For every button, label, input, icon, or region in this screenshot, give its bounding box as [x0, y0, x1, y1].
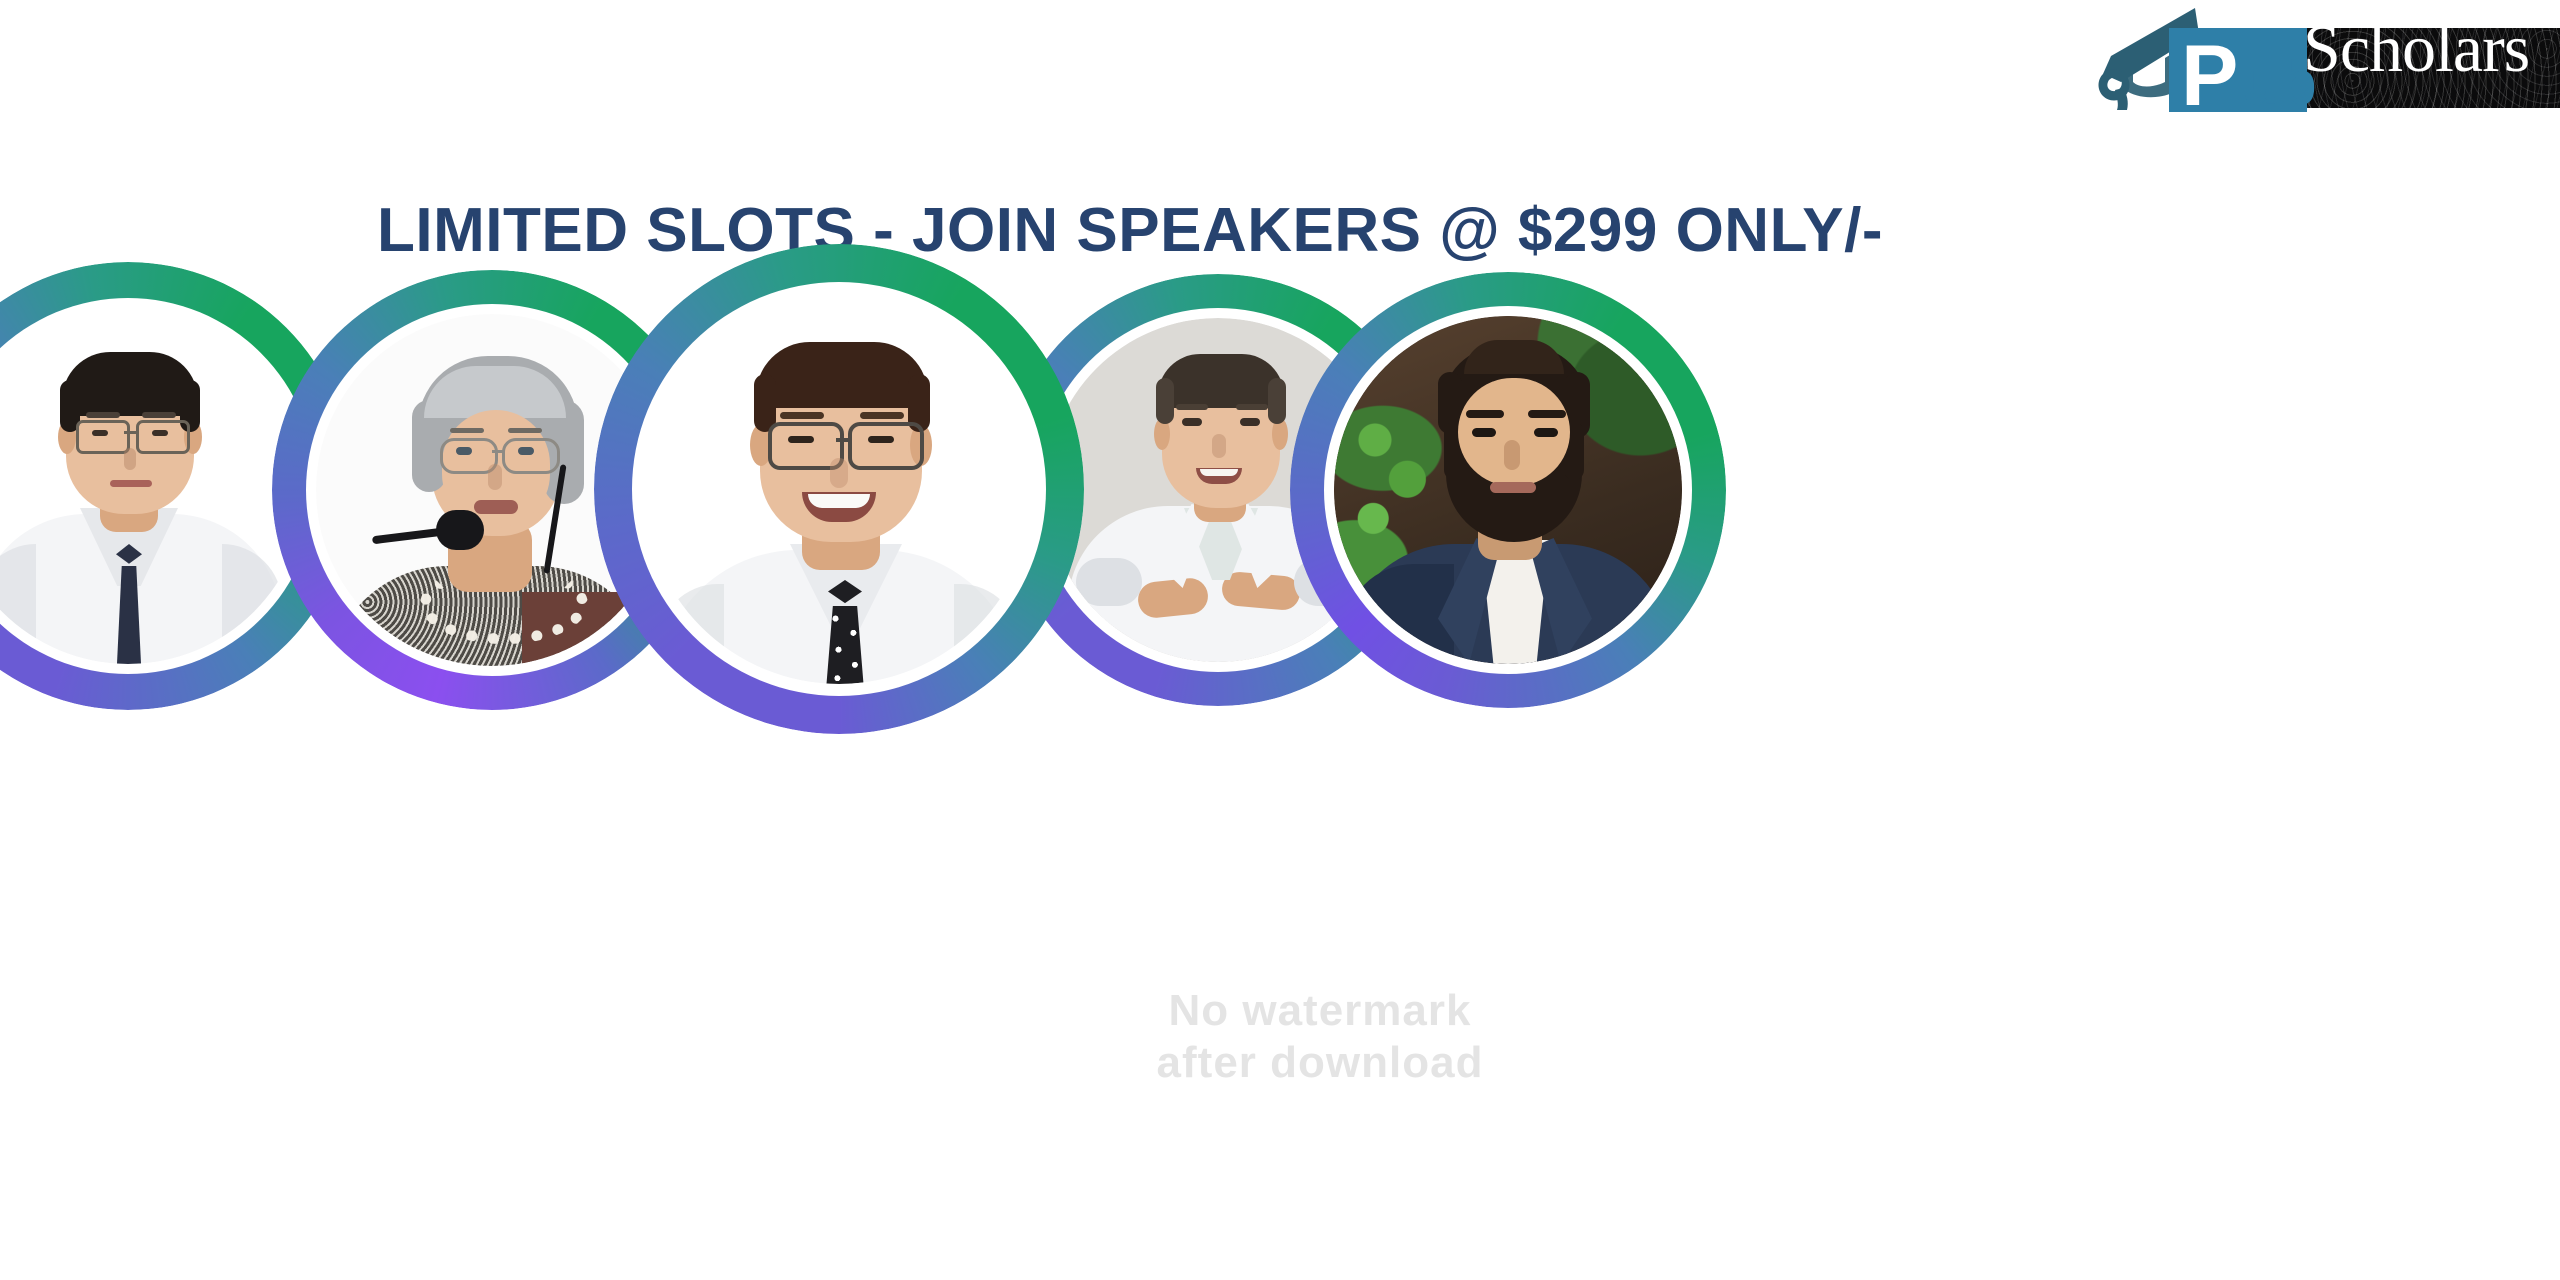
speaker-photo-3	[644, 294, 1034, 684]
logo-text-p: P	[2181, 40, 2238, 112]
speaker-ring-3[interactable]	[594, 244, 1084, 734]
speaker-photo-5	[1334, 316, 1682, 664]
speaker-rings-strip	[0, 250, 2560, 1170]
speakers-promo-banner: Scholars P ub LIMITED SLOTS - JOIN SPEAK…	[0, 0, 2560, 1280]
logo-text-scholars: Scholars	[2303, 14, 2529, 82]
scholarspub-logo[interactable]: Scholars P ub	[2095, 4, 2560, 112]
speaker-photo-1	[0, 308, 306, 664]
speaker-ring-5[interactable]	[1290, 272, 1726, 708]
logo-text-ub: ub	[2241, 56, 2317, 112]
